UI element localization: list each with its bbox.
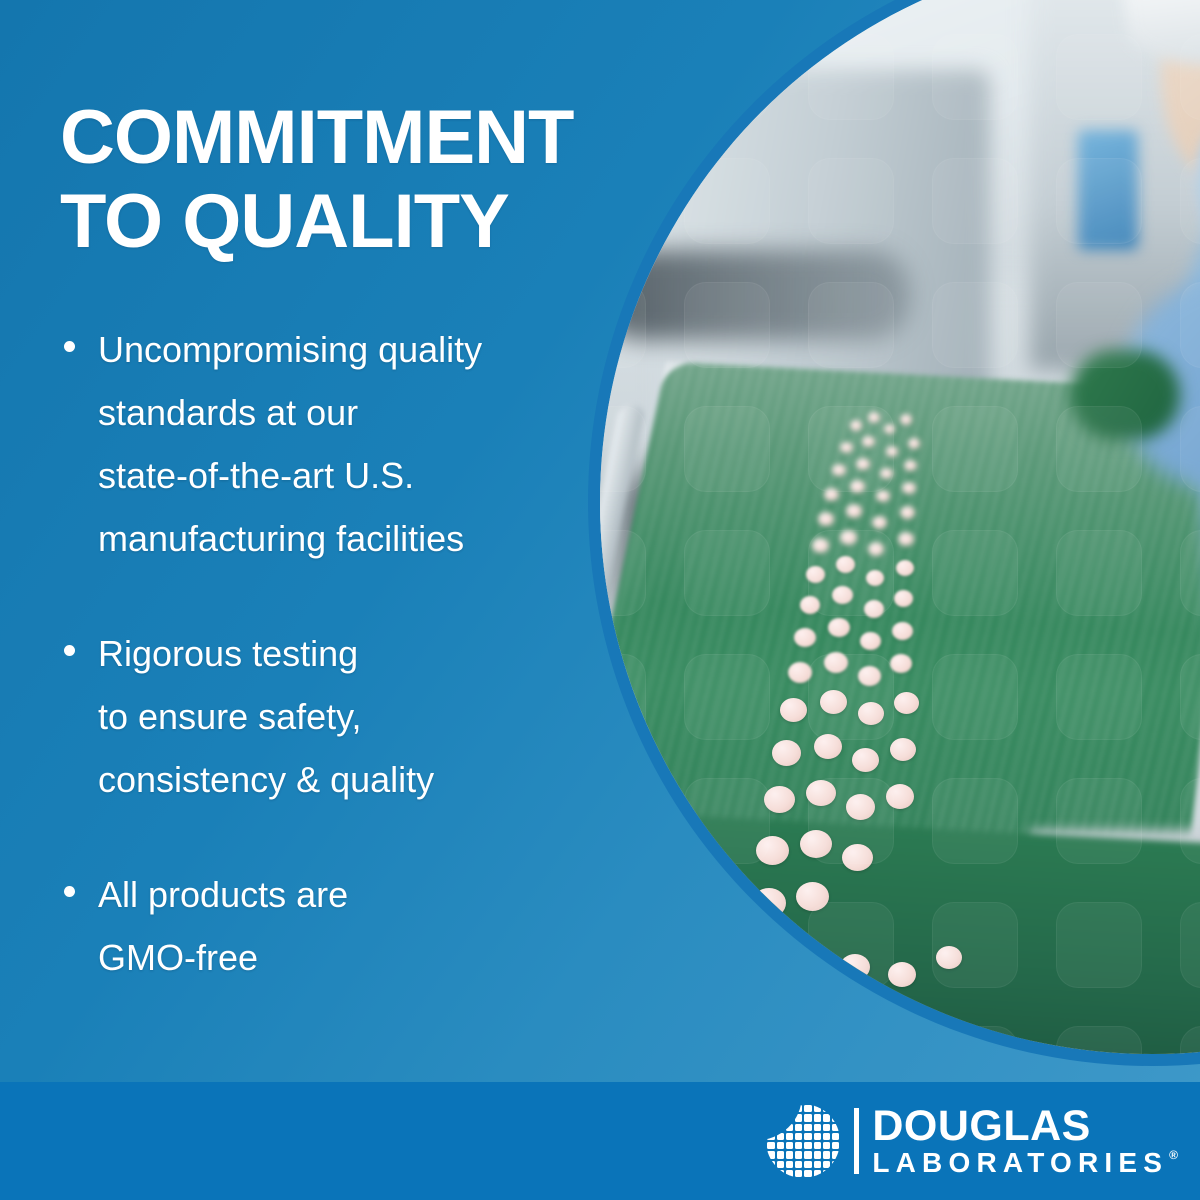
logo-grid-cell	[814, 1151, 821, 1158]
logo-grid-cell	[795, 1170, 802, 1177]
watermark-cell	[1180, 406, 1200, 492]
logo-grid-cell	[767, 1142, 774, 1149]
logo-grid-cell	[823, 1170, 830, 1177]
headline-line-1: COMMITMENT	[60, 96, 660, 180]
list-item-line: standards at our	[98, 381, 638, 444]
watermark-cell	[1056, 654, 1142, 740]
registered-trademark-icon: ®	[1169, 1148, 1178, 1162]
logo-grid-cell	[814, 1124, 821, 1131]
logo-wordmark: DOUGLAS LABORATORIES®	[872, 1104, 1178, 1178]
benefit-list: Uncompromising quality standards at our …	[58, 318, 638, 989]
watermark-cell	[1056, 902, 1142, 988]
logo-grid-cell	[823, 1105, 830, 1112]
logo-grid-cell	[795, 1133, 802, 1140]
logo-grid-cell	[767, 1151, 774, 1158]
watermark-cell	[808, 530, 894, 616]
watermark-cell	[932, 654, 1018, 740]
logo-grid-cell	[767, 1170, 774, 1177]
logo-grid-cell	[814, 1105, 821, 1112]
logo-grid-cell	[804, 1142, 811, 1149]
logo-grid-cell	[804, 1124, 811, 1131]
logo-grid-cell	[823, 1133, 830, 1140]
watermark-cell	[1056, 158, 1142, 244]
logo-grid-cell	[804, 1114, 811, 1121]
logo-grid-cell	[795, 1124, 802, 1131]
watermark-cell	[1180, 778, 1200, 864]
logo-grid-cell	[804, 1105, 811, 1112]
logo-grid-cell	[795, 1161, 802, 1168]
watermark-cell	[684, 902, 770, 988]
watermark-cell	[808, 34, 894, 120]
list-item-text: All products are GMO-free	[98, 863, 638, 989]
watermark-cell	[684, 530, 770, 616]
watermark-grid-overlay	[600, 0, 1200, 1054]
logo-grid-cell	[814, 1142, 821, 1149]
watermark-cell	[684, 158, 770, 244]
list-item: Rigorous testing to ensure safety, consi…	[58, 622, 638, 811]
watermark-cell	[684, 1026, 770, 1054]
logo-grid-cell	[795, 1142, 802, 1149]
logo-grid-cell	[804, 1151, 811, 1158]
list-item-line: Uncompromising quality	[98, 318, 638, 381]
factory-photo	[600, 0, 1200, 1054]
footer-bar: DOUGLAS LABORATORIES®	[0, 1082, 1200, 1200]
watermark-cell	[684, 282, 770, 368]
watermark-cell	[932, 530, 1018, 616]
watermark-cell	[808, 406, 894, 492]
watermark-cell	[808, 158, 894, 244]
douglas-grid-circle-icon	[766, 1104, 840, 1178]
watermark-cell	[932, 34, 1018, 120]
logo-grid-cell	[832, 1114, 839, 1121]
watermark-cell	[1056, 530, 1142, 616]
logo-grid-cell	[804, 1170, 811, 1177]
watermark-cell	[932, 902, 1018, 988]
logo-divider	[854, 1108, 859, 1174]
logo-grid-cell	[786, 1133, 793, 1140]
watermark-cell	[808, 654, 894, 740]
watermark-cell	[1056, 406, 1142, 492]
watermark-cell	[1180, 530, 1200, 616]
logo-grid-cell	[777, 1151, 784, 1158]
watermark-cell	[1056, 1026, 1142, 1054]
watermark-cell	[808, 1026, 894, 1054]
watermark-cell	[932, 778, 1018, 864]
logo-grid-cell	[786, 1170, 793, 1177]
watermark-cell	[808, 778, 894, 864]
logo-grid-cell	[814, 1133, 821, 1140]
list-item-line: manufacturing facilities	[98, 507, 638, 570]
list-item-line: consistency & quality	[98, 748, 638, 811]
logo-grid-cell	[777, 1170, 784, 1177]
logo-grid-cell	[832, 1124, 839, 1131]
bullet-dot-icon	[64, 341, 75, 352]
watermark-cell	[1180, 282, 1200, 368]
logo-grid-cell	[786, 1161, 793, 1168]
logo-grid-cell	[814, 1170, 821, 1177]
logo-grid-cell	[823, 1161, 830, 1168]
poster-canvas: COMMITMENT TO QUALITY Uncompromising qua…	[0, 0, 1200, 1200]
logo-grid-cell	[823, 1142, 830, 1149]
list-item-line: to ensure safety,	[98, 685, 638, 748]
logo-grid-cell	[786, 1151, 793, 1158]
logo-grid-cell	[832, 1142, 839, 1149]
watermark-cell	[1056, 34, 1142, 120]
watermark-cell	[1056, 778, 1142, 864]
logo-grid-cell	[804, 1161, 811, 1168]
logo-grid-cell	[823, 1124, 830, 1131]
logo-grid-cell	[832, 1151, 839, 1158]
watermark-cell	[932, 158, 1018, 244]
logo-grid-cell	[786, 1142, 793, 1149]
watermark-cell	[684, 654, 770, 740]
list-item-line: GMO-free	[98, 926, 638, 989]
headline-line-2: TO QUALITY	[60, 180, 660, 264]
brand-logo[interactable]: DOUGLAS LABORATORIES®	[766, 1104, 1178, 1178]
watermark-cell	[808, 902, 894, 988]
logo-grid-cell	[832, 1170, 839, 1177]
watermark-cell	[932, 406, 1018, 492]
watermark-cell	[1180, 902, 1200, 988]
bullet-dot-icon	[64, 645, 75, 656]
list-item: Uncompromising quality standards at our …	[58, 318, 638, 570]
list-item-line: Rigorous testing	[98, 622, 638, 685]
logo-grid-cell	[767, 1161, 774, 1168]
logo-grid-cell	[832, 1161, 839, 1168]
list-item: All products are GMO-free	[58, 863, 638, 989]
logo-grid-cell	[823, 1151, 830, 1158]
watermark-cell	[1180, 1026, 1200, 1054]
watermark-cell	[808, 282, 894, 368]
logo-secondary-text: LABORATORIES®	[872, 1148, 1178, 1178]
watermark-cell	[932, 1026, 1018, 1054]
logo-grid-cell	[823, 1114, 830, 1121]
logo-grid-cell	[777, 1142, 784, 1149]
logo-grid-cell	[832, 1133, 839, 1140]
watermark-cell	[600, 1026, 646, 1054]
watermark-cell	[684, 406, 770, 492]
list-item-text: Uncompromising quality standards at our …	[98, 318, 638, 570]
logo-grid-cell	[814, 1161, 821, 1168]
logo-grid-cell	[814, 1114, 821, 1121]
watermark-cell	[1180, 158, 1200, 244]
logo-grid-cell	[832, 1105, 839, 1112]
list-item-line: state-of-the-art U.S.	[98, 444, 638, 507]
watermark-cell	[932, 282, 1018, 368]
watermark-cell	[1180, 654, 1200, 740]
logo-grid-cell	[795, 1151, 802, 1158]
watermark-cell	[1180, 34, 1200, 120]
watermark-cell	[684, 778, 770, 864]
logo-secondary-label: LABORATORIES	[872, 1148, 1168, 1178]
logo-grid-cell	[777, 1161, 784, 1168]
watermark-cell	[684, 34, 770, 120]
list-item-text: Rigorous testing to ensure safety, consi…	[98, 622, 638, 811]
bullet-dot-icon	[64, 886, 75, 897]
logo-primary-text: DOUGLAS	[872, 1104, 1178, 1148]
page-title: COMMITMENT TO QUALITY	[60, 96, 660, 264]
logo-grid-cell	[804, 1133, 811, 1140]
list-item-line: All products are	[98, 863, 638, 926]
watermark-cell	[1056, 282, 1142, 368]
